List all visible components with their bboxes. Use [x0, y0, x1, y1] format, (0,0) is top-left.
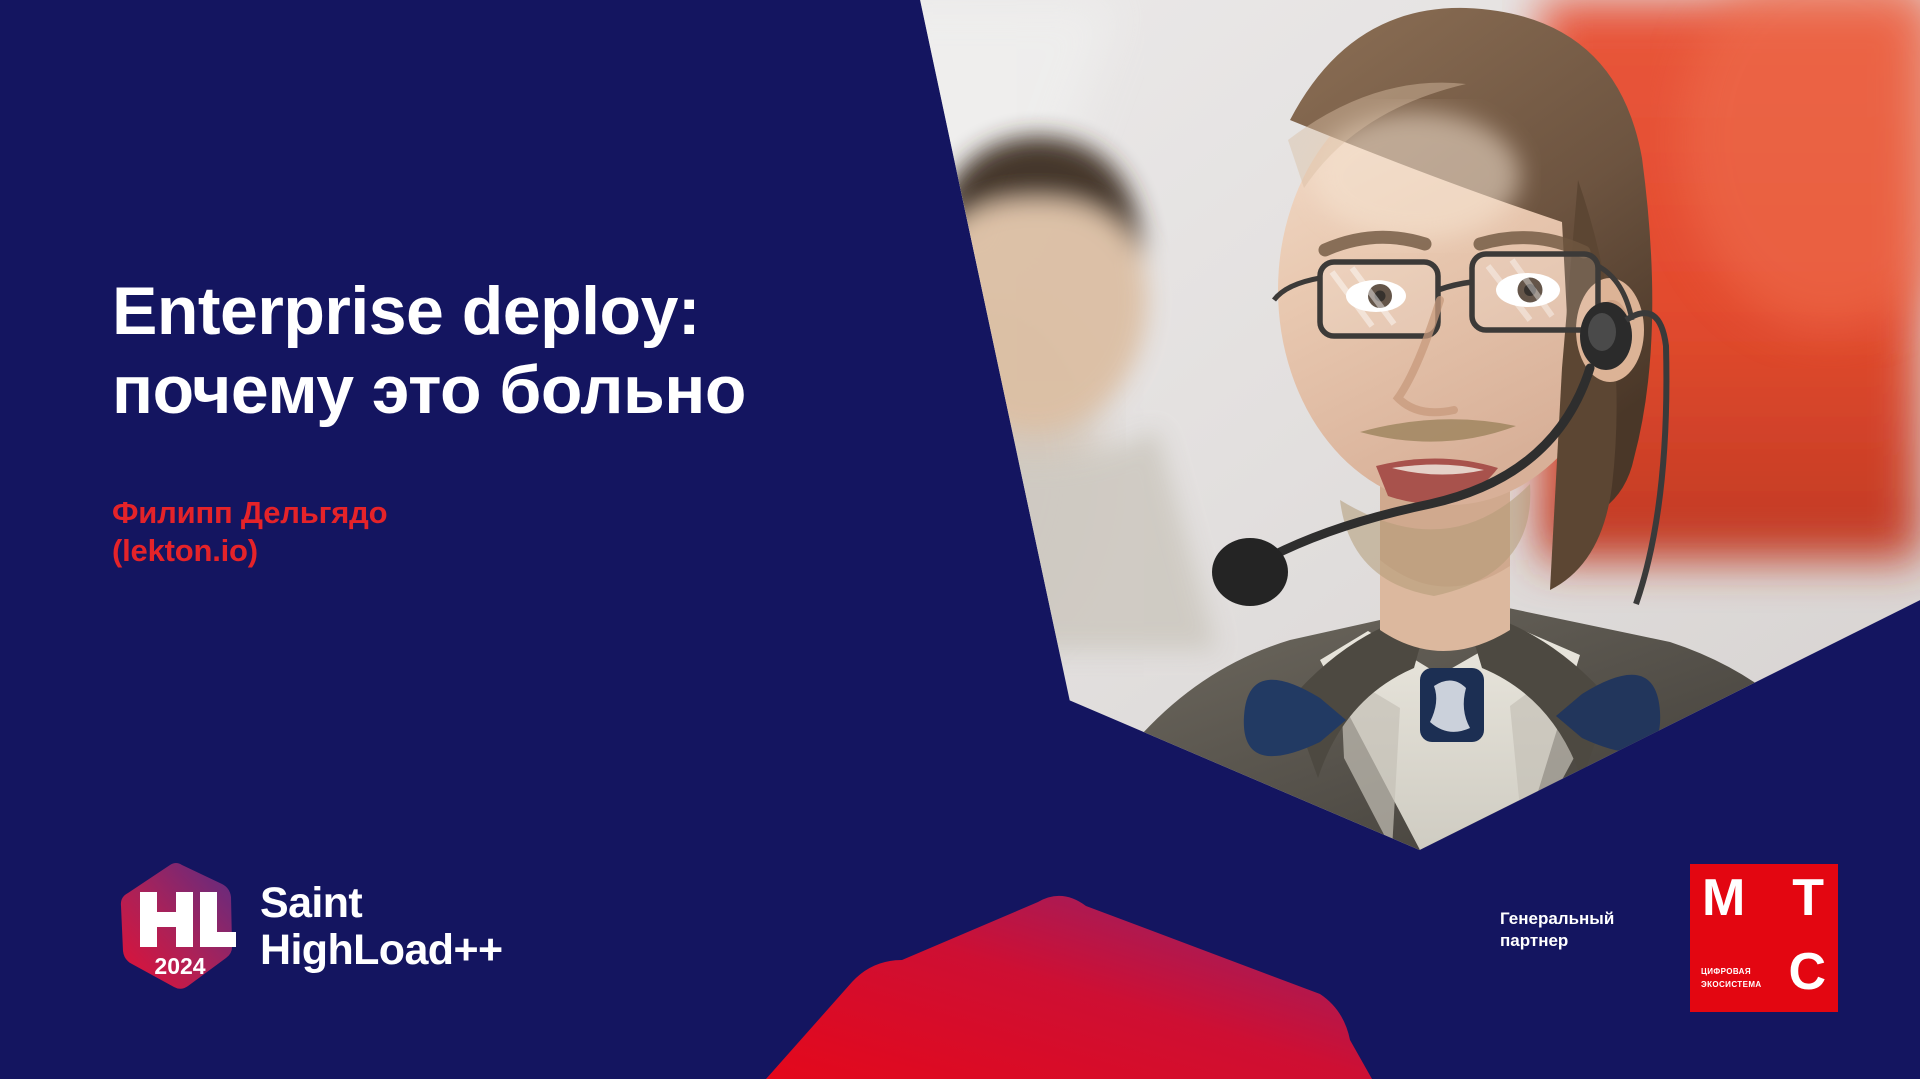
partner-label-line-2: партнер: [1500, 930, 1614, 952]
mts-tagline-line-1: ЦИФРОВАЯ: [1701, 966, 1762, 979]
gradient-polygon: [720, 890, 1400, 1079]
highload-badge-icon: 2024: [118, 862, 236, 992]
presentation-slide: Enterprise deploy: почему это больно Фил…: [0, 0, 1920, 1079]
mts-logo: M T C ЦИФРОВАЯ ЭКОСИСТЕМА: [1690, 864, 1838, 1012]
speaker-block: Филипп Дельгядо (lekton.io): [112, 494, 812, 570]
mts-tagline: ЦИФРОВАЯ ЭКОСИСТЕМА: [1701, 966, 1762, 992]
highload-badge-year: 2024: [154, 953, 205, 979]
highload-wordmark: Saint HighLoad++: [260, 880, 502, 975]
highload-wordmark-line-1: Saint: [260, 880, 502, 927]
page-title: Enterprise deploy: почему это больно: [112, 272, 872, 430]
mts-tagline-line-2: ЭКОСИСТЕМА: [1701, 979, 1762, 992]
mts-letter-c: C: [1788, 946, 1826, 998]
partner-label-line-1: Генеральный: [1500, 908, 1614, 930]
speaker-photo: [820, 0, 1920, 850]
speaker-site: (lekton.io): [112, 532, 812, 570]
speaker-photo-illustration: [820, 0, 1920, 850]
mts-letter-t: T: [1792, 872, 1824, 924]
partner-label: Генеральный партнер: [1500, 908, 1614, 953]
title-block: Enterprise deploy: почему это больно: [112, 272, 872, 430]
speaker-name: Филипп Дельгядо: [112, 494, 812, 532]
decorative-gradient-shape: [720, 890, 1400, 1079]
mts-letter-m: M: [1702, 872, 1745, 924]
title-line-2: почему это больно: [112, 351, 872, 430]
highload-wordmark-line-2: HighLoad++: [260, 927, 502, 974]
title-line-1: Enterprise deploy:: [112, 272, 872, 351]
highload-logo: 2024 Saint HighLoad++: [118, 862, 502, 992]
